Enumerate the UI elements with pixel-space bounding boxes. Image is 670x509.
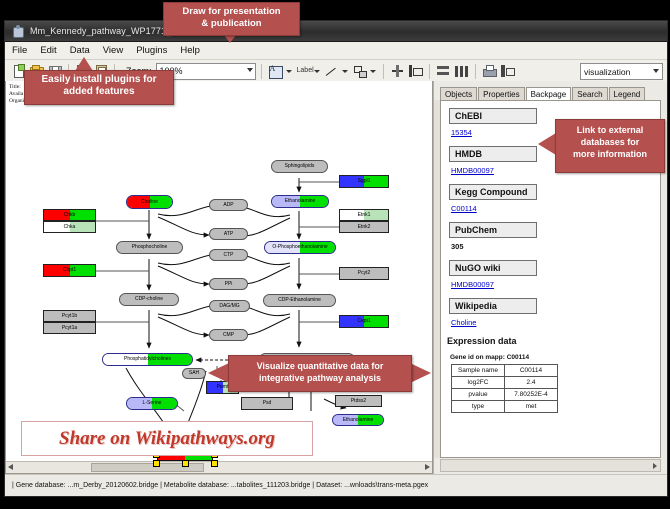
expression-data-heading: Expression data bbox=[447, 336, 660, 346]
section-header-hmdb: HMDB bbox=[449, 146, 537, 162]
table-row: type met bbox=[452, 401, 558, 413]
cell-value: 7.80252E-4 bbox=[505, 389, 558, 401]
chevron-down-icon bbox=[653, 69, 659, 73]
line-chevron-down-icon[interactable] bbox=[341, 63, 350, 80]
line-icon[interactable] bbox=[323, 63, 340, 80]
node-ethanolamine-top[interactable]: Ethanolamine bbox=[271, 195, 329, 208]
shape-chevron-down-icon[interactable] bbox=[369, 63, 378, 80]
share-banner-text: Share on Wikipathways.org bbox=[59, 428, 275, 450]
expression-table: Sample name C00114 log2FC 2.4 pvalue 7.8… bbox=[451, 364, 558, 413]
gene-psd[interactable]: Psd bbox=[241, 397, 293, 410]
status-text: | Gene database: ...m_Derby_20120602.bri… bbox=[5, 482, 428, 489]
cell-key: log2FC bbox=[452, 377, 505, 389]
status-bar: | Gene database: ...m_Derby_20120602.bri… bbox=[5, 474, 667, 496]
gene-pcyt1a[interactable]: Pcyt1a bbox=[43, 322, 96, 334]
callout-visualize-line2: integrative pathway analysis bbox=[229, 372, 411, 384]
callout-link-line3: more information bbox=[556, 148, 664, 160]
node-sphingolipids[interactable]: Sphingolipids bbox=[271, 160, 328, 173]
shape-icon[interactable] bbox=[351, 63, 368, 80]
node-ppi[interactable]: PPi bbox=[209, 278, 248, 290]
callout-link-line2: databases for bbox=[556, 136, 664, 148]
gene-ptdss2[interactable]: Ptdss2 bbox=[335, 395, 382, 407]
menu-help[interactable]: Help bbox=[178, 44, 202, 57]
align-left-icon[interactable] bbox=[407, 63, 424, 80]
callout-plugins-arrow-up-icon bbox=[75, 57, 93, 71]
node-ctp[interactable]: CTP bbox=[209, 249, 248, 261]
label-icon[interactable]: Label bbox=[295, 63, 312, 80]
table-row: pvalue 7.80252E-4 bbox=[452, 389, 558, 401]
gene-sgpl1[interactable]: Sgpl1 bbox=[339, 175, 389, 188]
tab-objects[interactable]: Objects bbox=[440, 87, 477, 100]
callout-visualize-arrow-right-icon bbox=[410, 363, 431, 383]
table-row: Sample name C00114 bbox=[452, 365, 558, 377]
menu-bar: File Edit Data View Plugins Help bbox=[5, 42, 667, 60]
node-cdp-ethanolamine[interactable]: CDP-Ethanolamine bbox=[263, 294, 336, 307]
visualization-combo[interactable]: visualization bbox=[580, 63, 663, 80]
node-cdp-choline[interactable]: CDP-choline bbox=[119, 293, 179, 306]
side-panel-horizontal-scrollbar[interactable] bbox=[440, 459, 661, 472]
callout-link-line1: Link to external bbox=[556, 124, 664, 136]
tab-search[interactable]: Search bbox=[572, 87, 607, 100]
pubchem-value: 305 bbox=[451, 242, 660, 251]
callout-visualize: Visualize quantitative data for integrat… bbox=[228, 355, 412, 392]
cell-key: type bbox=[452, 401, 505, 413]
tab-backpage[interactable]: Backpage bbox=[526, 87, 572, 101]
selection-handle[interactable] bbox=[182, 460, 189, 467]
section-header-pubchem: PubChem bbox=[449, 222, 537, 238]
toolbar-separator bbox=[429, 64, 430, 79]
share-banner: Share on Wikipathways.org bbox=[21, 421, 313, 456]
node-dag-mg[interactable]: DAG/MG bbox=[209, 300, 250, 312]
selection-handle[interactable] bbox=[211, 460, 218, 467]
side-panel-tabs: Objects Properties Backpage Search Legen… bbox=[440, 85, 661, 101]
callout-plugins: Easily install plugins for added feature… bbox=[24, 70, 174, 105]
app-icon bbox=[11, 25, 25, 38]
tab-legend[interactable]: Legend bbox=[609, 87, 646, 100]
callout-link: Link to external databases for more info… bbox=[555, 119, 665, 173]
align-center-icon[interactable] bbox=[389, 63, 406, 80]
tab-properties[interactable]: Properties bbox=[478, 87, 524, 100]
node-phosphatidylcholines[interactable]: Phosphatidylcholines bbox=[102, 353, 193, 366]
section-header-wikipedia: Wikipedia bbox=[449, 298, 537, 314]
datanode-icon[interactable] bbox=[267, 63, 284, 80]
callout-draw-line1: Draw for presentation bbox=[164, 6, 299, 18]
callout-link-arrow-left-icon bbox=[538, 133, 556, 155]
menu-plugins[interactable]: Plugins bbox=[134, 44, 169, 57]
table-row: log2FC 2.4 bbox=[452, 377, 558, 389]
canvas-horizontal-scrollbar[interactable] bbox=[6, 461, 432, 473]
selection-handle[interactable] bbox=[153, 460, 160, 467]
cell-value: met bbox=[505, 401, 558, 413]
section-header-nugo-wiki: NuGO wiki bbox=[449, 260, 537, 276]
menu-file[interactable]: File bbox=[10, 44, 29, 57]
screenshot-root: Mm_Kennedy_pathway_WP1771_45176.gpml Fil… bbox=[0, 0, 670, 509]
cell-key: Sample name bbox=[452, 365, 505, 377]
wikipedia-link[interactable]: Choline bbox=[451, 318, 660, 327]
cell-key: pvalue bbox=[452, 389, 505, 401]
node-sah[interactable]: SAH bbox=[182, 368, 206, 379]
callout-plugins-line1: Easily install plugins for bbox=[25, 74, 173, 86]
gene-chka[interactable]: Chka bbox=[43, 221, 96, 233]
section-header-chebi: ChEBI bbox=[449, 108, 537, 124]
gene-chpt1[interactable]: Chpt1 bbox=[43, 264, 96, 277]
toolbar-separator bbox=[475, 64, 476, 79]
gene-etnk1[interactable]: Etnk1 bbox=[339, 209, 389, 221]
visualization-value: visualization bbox=[584, 67, 630, 77]
distribute-icon[interactable] bbox=[453, 63, 470, 80]
scroll-right-arrow-icon[interactable] bbox=[425, 464, 430, 470]
stack-icon[interactable] bbox=[435, 63, 452, 80]
gene-etnk2[interactable]: Etnk2 bbox=[339, 221, 389, 233]
cell-value: 2.4 bbox=[505, 377, 558, 389]
callout-draw: Draw for presentation & publication bbox=[163, 2, 300, 36]
toolbar-separator bbox=[383, 64, 384, 79]
node-l-serine-left[interactable]: L-Serine bbox=[126, 397, 178, 410]
node-o-phosphoethanolamine[interactable]: O-Phosphoethanolamine bbox=[264, 241, 336, 254]
callout-plugins-line2: added features bbox=[25, 86, 173, 98]
section-header-kegg-compound: Kegg Compound bbox=[449, 184, 537, 200]
label-chevron-down-icon[interactable] bbox=[313, 63, 322, 80]
kegg-link[interactable]: C00114 bbox=[451, 204, 660, 213]
callout-visualize-arrow-left-icon bbox=[208, 363, 229, 383]
menu-view[interactable]: View bbox=[101, 44, 125, 57]
cell-value: C00114 bbox=[505, 365, 558, 377]
gene-chkb[interactable]: Chkb bbox=[43, 209, 96, 221]
callout-visualize-line1: Visualize quantitative data for bbox=[229, 360, 411, 372]
gene-id-label: Gene id on mapp: C00114 bbox=[450, 354, 660, 361]
chevron-down-icon bbox=[247, 68, 253, 72]
node-cmp[interactable]: CMP bbox=[209, 329, 248, 341]
pathway-canvas[interactable]: Title: Availa Organi bbox=[6, 81, 432, 473]
title-bar: Mm_Kennedy_pathway_WP1771_45176.gpml bbox=[5, 21, 667, 42]
gene-pcyt1b[interactable]: Pcyt1b bbox=[43, 310, 96, 322]
gene-pcyt2[interactable]: Pcyt2 bbox=[339, 267, 389, 280]
node-atp[interactable]: ATP bbox=[209, 228, 248, 240]
callout-draw-line2: & publication bbox=[164, 18, 299, 30]
printer-icon[interactable] bbox=[481, 63, 498, 80]
align-right-icon[interactable] bbox=[499, 63, 516, 80]
scroll-left-arrow-icon[interactable] bbox=[8, 464, 13, 470]
toolbar-separator bbox=[261, 64, 262, 79]
pathway-canvas-pane[interactable]: Title: Availa Organi bbox=[5, 81, 433, 474]
gene-cept1[interactable]: Cept1 bbox=[339, 315, 389, 328]
node-choline-top[interactable]: Choline bbox=[126, 195, 173, 209]
node-ethanolamine-right[interactable]: Ethanolamine bbox=[332, 414, 384, 426]
menu-data[interactable]: Data bbox=[68, 44, 92, 57]
datanode-chevron-down-icon[interactable] bbox=[285, 63, 294, 80]
nugo-link[interactable]: HMDB00097 bbox=[451, 280, 660, 289]
node-adp[interactable]: ADP bbox=[209, 199, 248, 211]
menu-edit[interactable]: Edit bbox=[38, 44, 58, 57]
node-phosphocholine[interactable]: Phosphocholine bbox=[116, 241, 183, 254]
